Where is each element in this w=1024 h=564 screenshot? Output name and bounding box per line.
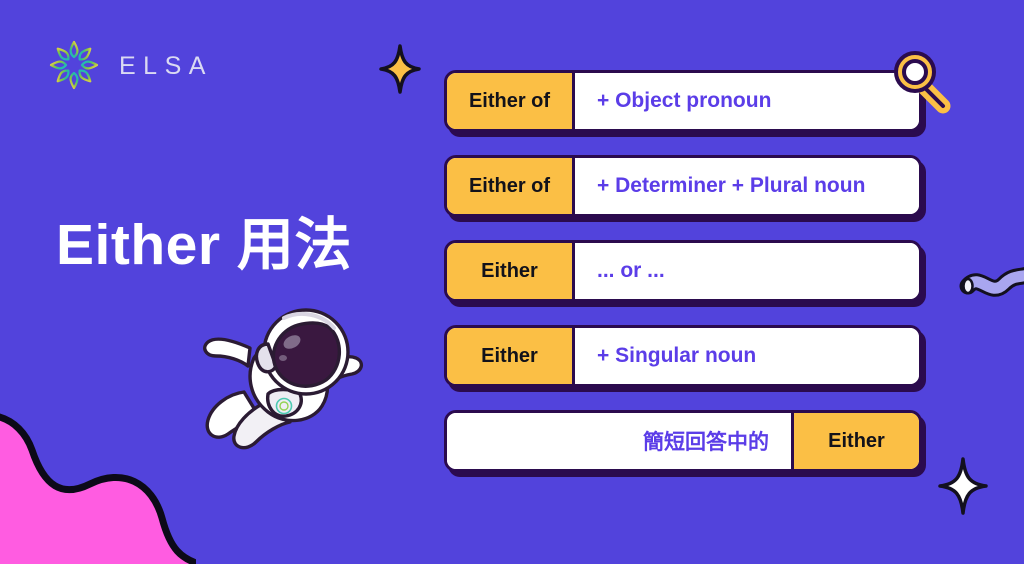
usage-card[interactable]: Either 簡短回答中的 — [444, 410, 922, 472]
magnifying-glass-icon — [889, 46, 955, 114]
card-tag: Either — [791, 413, 919, 469]
usage-card-list: Either of + Object pronoun Either of + D… — [444, 70, 922, 472]
usage-card[interactable]: Either of + Object pronoun — [444, 70, 922, 132]
card-body: ... or ... — [575, 243, 919, 299]
brand-wordmark: ELSA — [119, 52, 213, 79]
usage-card[interactable]: Either ... or ... — [444, 240, 922, 302]
card-body: + Singular noun — [575, 328, 919, 384]
card-tag: Either of — [447, 158, 575, 214]
card-tag: Either — [447, 243, 575, 299]
card-body: + Object pronoun — [575, 73, 919, 129]
elsa-flower-logo-icon — [48, 38, 100, 92]
card-tag: Either — [447, 328, 575, 384]
usage-card[interactable]: Either of + Determiner + Plural noun — [444, 155, 922, 217]
card-body: 簡短回答中的 — [447, 413, 791, 469]
four-point-star-icon — [936, 456, 990, 516]
lavender-tube-shape — [958, 258, 1024, 310]
card-tag: Either of — [447, 73, 575, 129]
floating-astronaut-illustration — [188, 296, 378, 456]
page-title: Either 用法 — [56, 214, 352, 277]
brand-logo[interactable]: ELSA — [48, 38, 213, 92]
card-body: + Determiner + Plural noun — [575, 158, 919, 214]
pink-squiggle-shape — [0, 394, 196, 564]
four-point-star-icon — [378, 44, 422, 94]
usage-card[interactable]: Either + Singular noun — [444, 325, 922, 387]
